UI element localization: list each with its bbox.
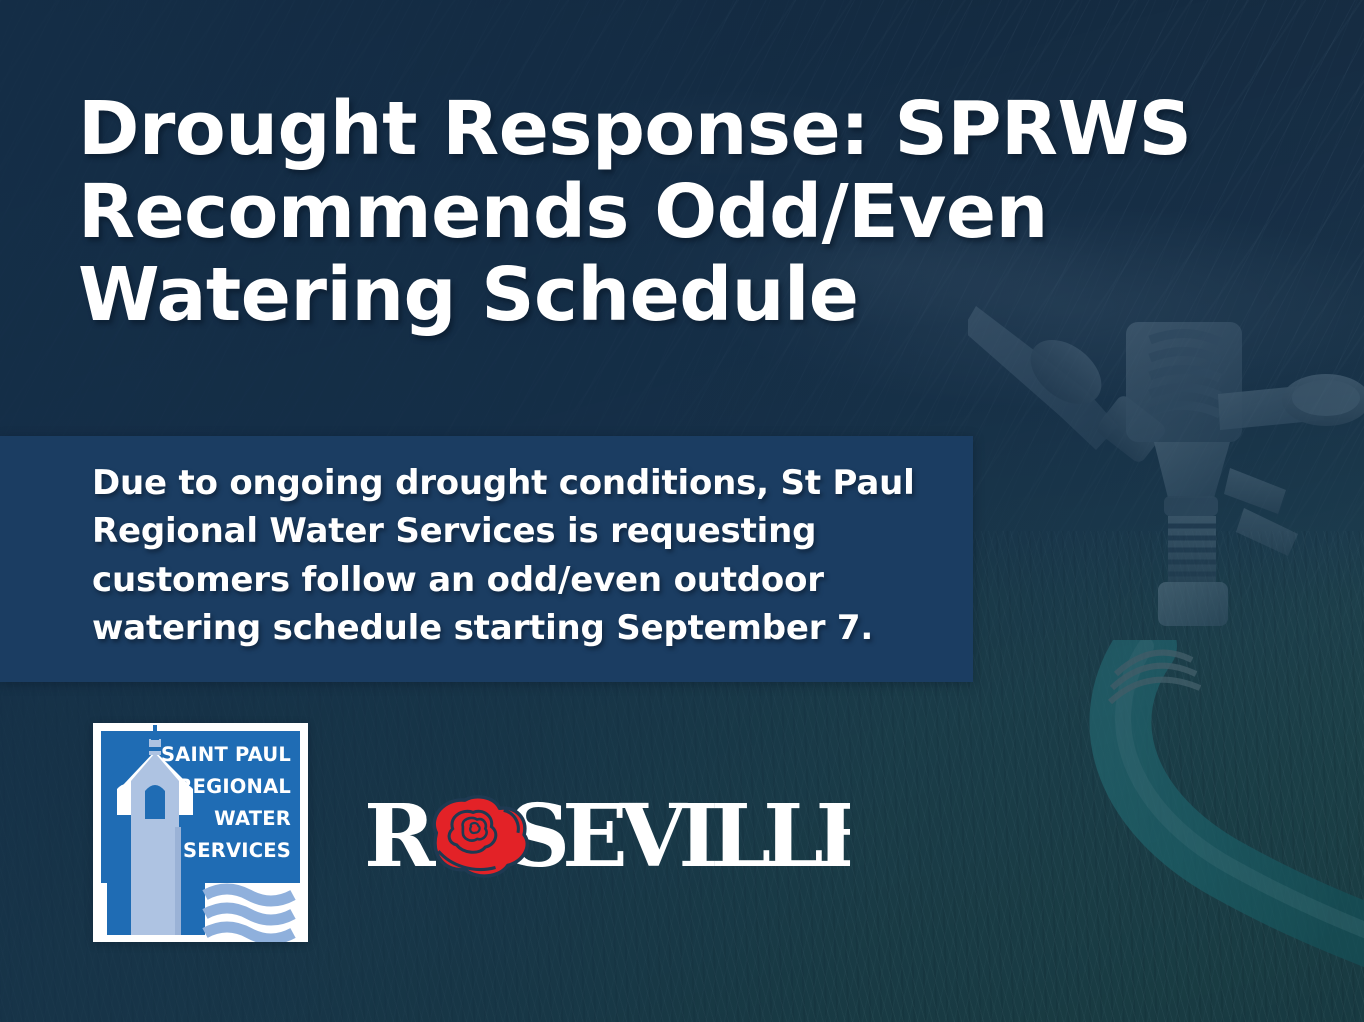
roseville-wordmark-text: SEVILLE <box>508 786 850 884</box>
sprws-logo: SAINT PAUL REGIONAL WATER SERVICES <box>93 723 308 942</box>
rose-icon <box>434 797 527 876</box>
sprws-line-2: REGIONAL <box>177 775 291 798</box>
sprws-line-3: WATER <box>214 807 291 830</box>
sprws-line-1: SAINT PAUL <box>161 743 291 766</box>
sprws-line-4: SERVICES <box>183 839 291 862</box>
graphic-canvas: Drought Response: SPRWS Recommends Odd/E… <box>0 0 1364 1022</box>
roseville-logo: SEVILLE R <box>360 786 850 884</box>
page-title: Drought Response: SPRWS Recommends Odd/E… <box>78 88 1268 337</box>
roseville-letter-r: R <box>364 786 436 884</box>
message-body: Due to ongoing drought conditions, St Pa… <box>92 459 972 652</box>
